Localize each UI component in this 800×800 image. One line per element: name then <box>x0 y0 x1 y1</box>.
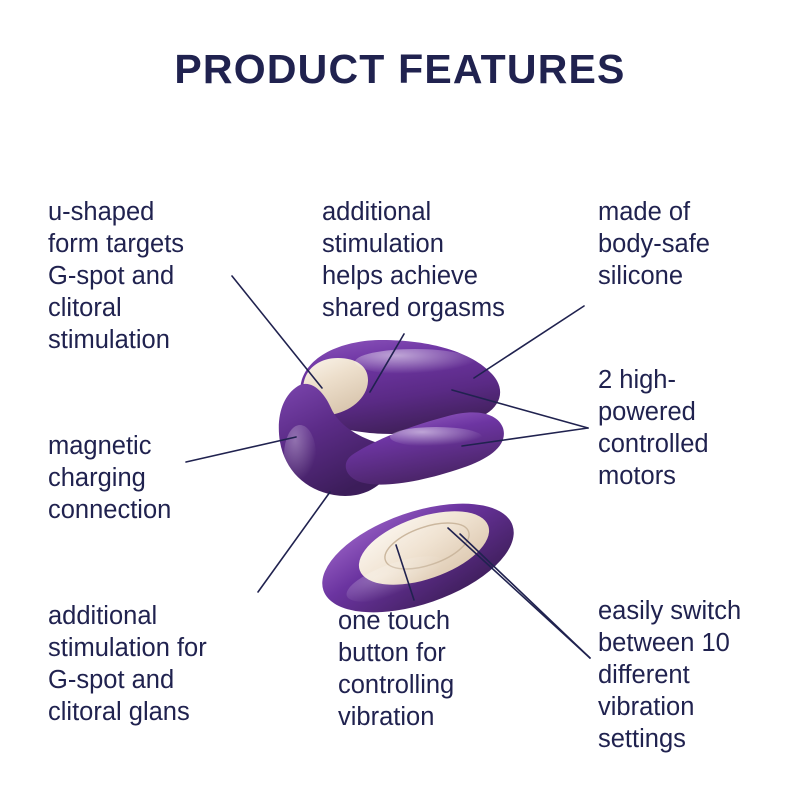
device-gloss-highlight-bottom <box>390 427 482 447</box>
callout-body-safe-silicone: made of body-safe silicone <box>598 196 793 292</box>
magnetic-charging-panel <box>303 358 368 416</box>
callout-one-touch-button: one touch button for controlling vibrati… <box>338 605 528 733</box>
u-shaped-device <box>279 340 504 496</box>
remote-button-panel <box>350 497 499 600</box>
device-gloss-highlight-top <box>355 349 475 375</box>
leader-line-motors-upper <box>452 390 588 428</box>
charging-contact-dot <box>310 399 322 409</box>
callout-additional-stimulation-gspot: additional stimulation for G-spot and cl… <box>48 600 278 728</box>
device-inner-arm <box>346 412 504 484</box>
callout-high-powered-motors: 2 high- powered controlled motors <box>598 364 793 492</box>
device-gloss-highlight-bend <box>284 425 316 485</box>
callout-ushape: u-shaped form targets G-spot and clitora… <box>48 196 263 356</box>
remote-gloss-highlight <box>342 547 451 611</box>
leader-line-addstim-g <box>258 492 330 592</box>
leader-line-addstim-sh <box>370 334 404 392</box>
device-bend <box>279 384 392 496</box>
leader-line-motors-lower <box>462 428 588 446</box>
remote-button-inner-ring <box>379 514 475 579</box>
page-title: PRODUCT FEATURES <box>0 46 800 93</box>
callout-additional-stimulation-shared: additional stimulation helps achieve sha… <box>322 196 557 324</box>
callout-magnetic-charging: magnetic charging connection <box>48 430 263 526</box>
device-upper-arm <box>300 340 500 434</box>
product-features-infographic: PRODUCT FEATURES <box>0 0 800 800</box>
leader-line-onetouch <box>396 545 414 600</box>
callout-vibration-settings: easily switch between 10 different vibra… <box>598 595 798 755</box>
